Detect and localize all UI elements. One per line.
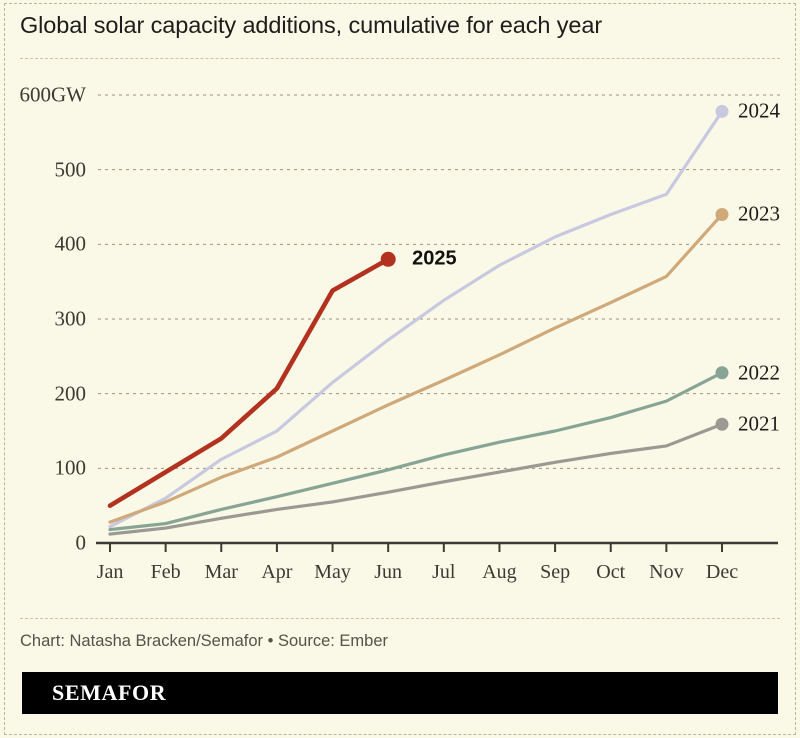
footer-credit: Chart: Natasha Bracken/Semafor • Source:… bbox=[20, 632, 388, 651]
x-axis-tick-label: Nov bbox=[649, 561, 683, 584]
semafor-logo-bar: SEMAFOR bbox=[22, 672, 778, 714]
series-label-2022: 2022 bbox=[738, 360, 780, 385]
x-axis-tick-label: Jun bbox=[374, 561, 402, 584]
y-axis-tick-label: 200 bbox=[0, 381, 86, 406]
x-axis bbox=[96, 543, 778, 552]
x-axis-tick-label: Sep bbox=[540, 561, 570, 584]
series-endpoint-2021 bbox=[716, 418, 729, 431]
x-axis-tick-label: Mar bbox=[205, 561, 238, 584]
series-line-2021 bbox=[110, 424, 722, 534]
y-axis-tick-label: 100 bbox=[0, 456, 86, 481]
x-axis-tick-label: Aug bbox=[482, 561, 516, 584]
series-label-2025: 2025 bbox=[412, 248, 457, 271]
y-axis-tick-label: 300 bbox=[0, 307, 86, 332]
x-axis-tick-label: Jul bbox=[432, 561, 455, 584]
series-endpoint-2023 bbox=[716, 208, 729, 221]
chart-plot-area: 0100200300400500600GW JanFebMarAprMayJun… bbox=[0, 0, 800, 610]
series-endpoint-2022 bbox=[716, 366, 729, 379]
gridlines bbox=[20, 58, 780, 468]
y-axis-tick-label: 500 bbox=[0, 157, 86, 182]
series-lines bbox=[110, 111, 722, 534]
x-axis-tick-label: Dec bbox=[706, 561, 738, 584]
x-axis-tick-label: Oct bbox=[596, 561, 625, 584]
y-axis-tick-label: 400 bbox=[0, 232, 86, 257]
chart-page: Global solar capacity additions, cumulat… bbox=[0, 0, 800, 738]
y-axis-tick-label: 0 bbox=[0, 531, 86, 556]
chart-svg bbox=[0, 0, 800, 610]
x-axis-tick-label: Jan bbox=[97, 561, 124, 584]
series-endpoint-2025 bbox=[381, 252, 396, 267]
footer-divider bbox=[20, 618, 780, 619]
semafor-logo-text: SEMAFOR bbox=[52, 680, 166, 706]
x-axis-tick-label: May bbox=[314, 561, 351, 584]
series-label-2024: 2024 bbox=[738, 99, 780, 124]
series-label-2021: 2021 bbox=[738, 412, 780, 437]
y-axis-tick-label: 600GW bbox=[0, 83, 86, 108]
series-endpoint-2024 bbox=[716, 105, 729, 118]
x-axis-tick-label: Apr bbox=[261, 561, 292, 584]
series-label-2023: 2023 bbox=[738, 202, 780, 227]
x-axis-tick-label: Feb bbox=[151, 561, 181, 584]
